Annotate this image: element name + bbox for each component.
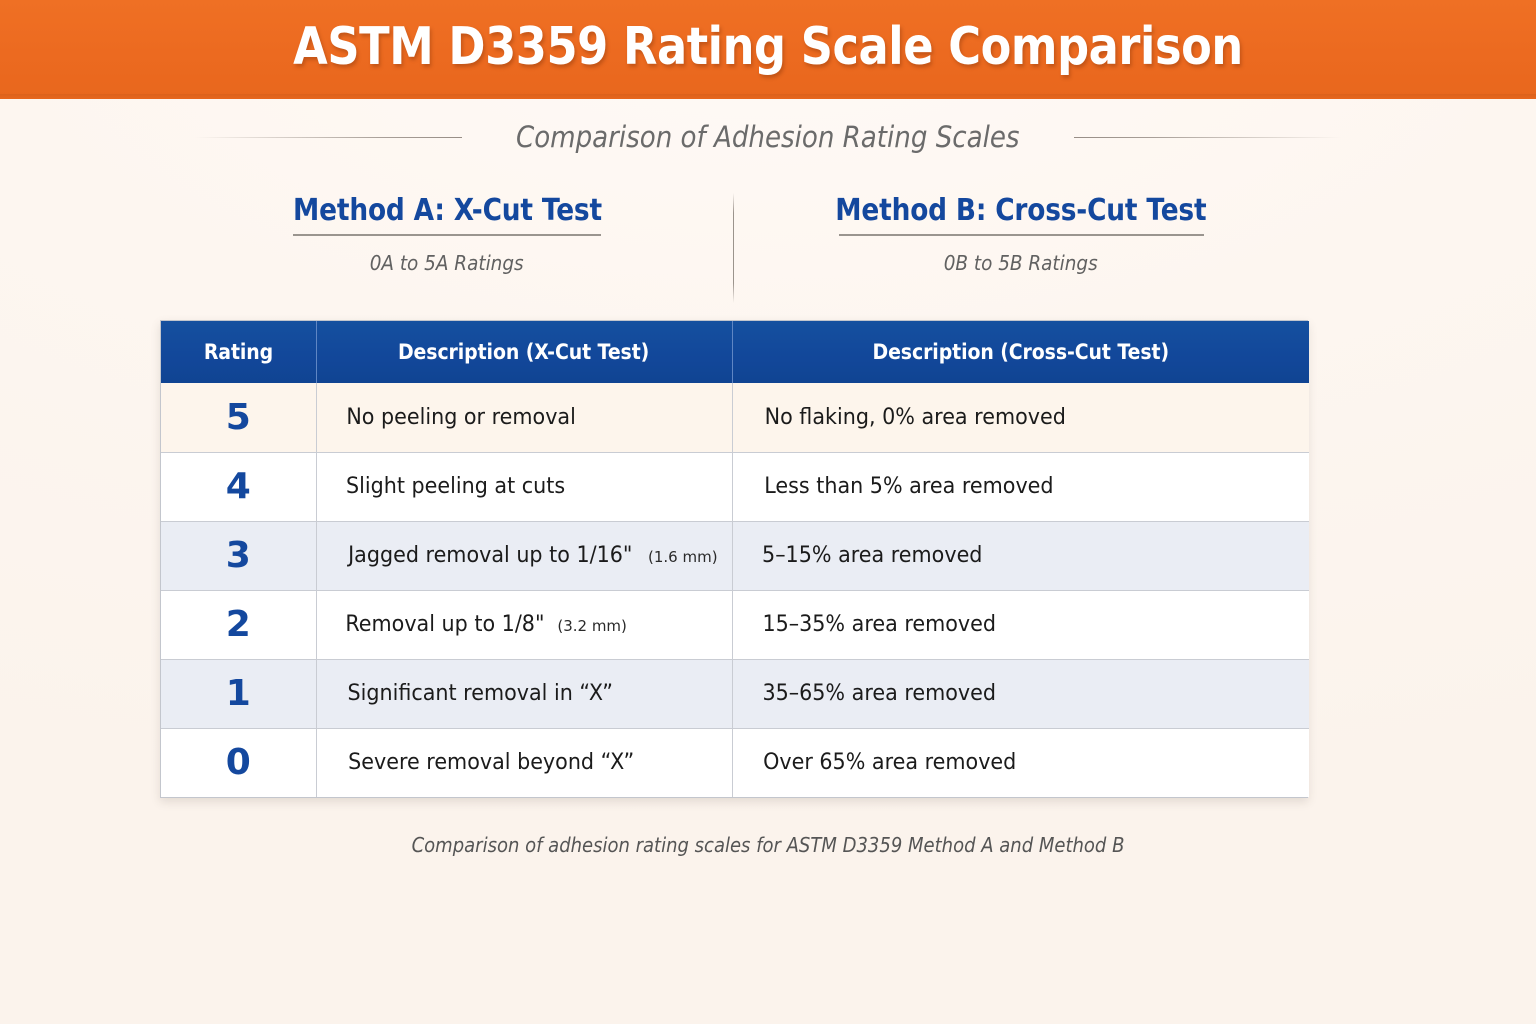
column-header-description-a: Description (X-Cut Test) xyxy=(316,321,732,383)
rating-comparison-table: Rating Description (X-Cut Test) Descript… xyxy=(160,320,1308,798)
description-cross-cut: 5–15% area removed xyxy=(732,521,1309,590)
method-a-underline xyxy=(293,234,601,236)
subtitle-rule-right xyxy=(1074,137,1341,138)
table-header-row: Rating Description (X-Cut Test) Descript… xyxy=(161,321,1309,383)
method-b-title: Method B: Cross-Cut Test xyxy=(835,193,1206,228)
page-title: ASTM D3359 Rating Scale Comparison xyxy=(108,17,1429,77)
method-b-subtitle: 0B to 5B Ratings xyxy=(944,251,1098,275)
method-a-subtitle: 0A to 5A Ratings xyxy=(370,251,524,275)
description-x-cut: Slight peeling at cuts xyxy=(316,452,732,521)
rating-value: 5 xyxy=(161,383,316,452)
description-cross-cut: Less than 5% area removed xyxy=(732,452,1309,521)
description-x-cut: Jagged removal up to 1/16" (1.6 mm) xyxy=(316,521,732,590)
description-cross-cut: 15–35% area removed xyxy=(732,590,1309,659)
method-headings: Method A: X-Cut Test 0A to 5A Ratings Me… xyxy=(160,193,1308,305)
description-cross-cut: 35–65% area removed xyxy=(732,659,1309,728)
subtitle-rule-left xyxy=(195,137,462,138)
table-row: 5 No peeling or removal No flaking, 0% a… xyxy=(161,383,1309,452)
rating-value: 4 xyxy=(161,452,316,521)
rating-value: 1 xyxy=(161,659,316,728)
table-body: 5 No peeling or removal No flaking, 0% a… xyxy=(161,383,1309,797)
table-header: Rating Description (X-Cut Test) Descript… xyxy=(161,321,1309,383)
method-a-title: Method A: X-Cut Test xyxy=(293,193,602,228)
table-row: 3 Jagged removal up to 1/16" (1.6 mm) 5–… xyxy=(161,521,1309,590)
rating-value: 2 xyxy=(161,590,316,659)
method-column-a: Method A: X-Cut Test 0A to 5A Ratings xyxy=(160,193,734,305)
table-row: 4 Slight peeling at cuts Less than 5% ar… xyxy=(161,452,1309,521)
description-x-cut: Removal up to 1/8" (3.2 mm) xyxy=(316,590,732,659)
figure-caption-text: Comparison of adhesion rating scales for… xyxy=(412,833,1125,857)
description-x-cut: Severe removal beyond “X” xyxy=(316,728,732,797)
method-b-underline xyxy=(839,234,1204,236)
description-x-cut: Significant removal in “X” xyxy=(316,659,732,728)
table-row: 1 Significant removal in “X” 35–65% area… xyxy=(161,659,1309,728)
title-banner: ASTM D3359 Rating Scale Comparison xyxy=(0,0,1536,99)
table-row: 0 Severe removal beyond “X” Over 65% are… xyxy=(161,728,1309,797)
figure-caption: Comparison of adhesion rating scales for… xyxy=(0,833,1536,857)
subtitle-text: Comparison of Adhesion Rating Scales xyxy=(516,120,1020,154)
column-header-rating: Rating xyxy=(161,321,316,383)
description-x-cut: No peeling or removal xyxy=(316,383,732,452)
rating-value: 0 xyxy=(161,728,316,797)
description-cross-cut: No flaking, 0% area removed xyxy=(732,383,1309,452)
method-column-b: Method B: Cross-Cut Test 0B to 5B Rating… xyxy=(734,193,1308,305)
column-header-description-b: Description (Cross-Cut Test) xyxy=(732,321,1309,383)
table-row: 2 Removal up to 1/8" (3.2 mm) 15–35% are… xyxy=(161,590,1309,659)
description-cross-cut: Over 65% area removed xyxy=(732,728,1309,797)
rating-value: 3 xyxy=(161,521,316,590)
subtitle-row: Comparison of Adhesion Rating Scales xyxy=(195,117,1341,157)
